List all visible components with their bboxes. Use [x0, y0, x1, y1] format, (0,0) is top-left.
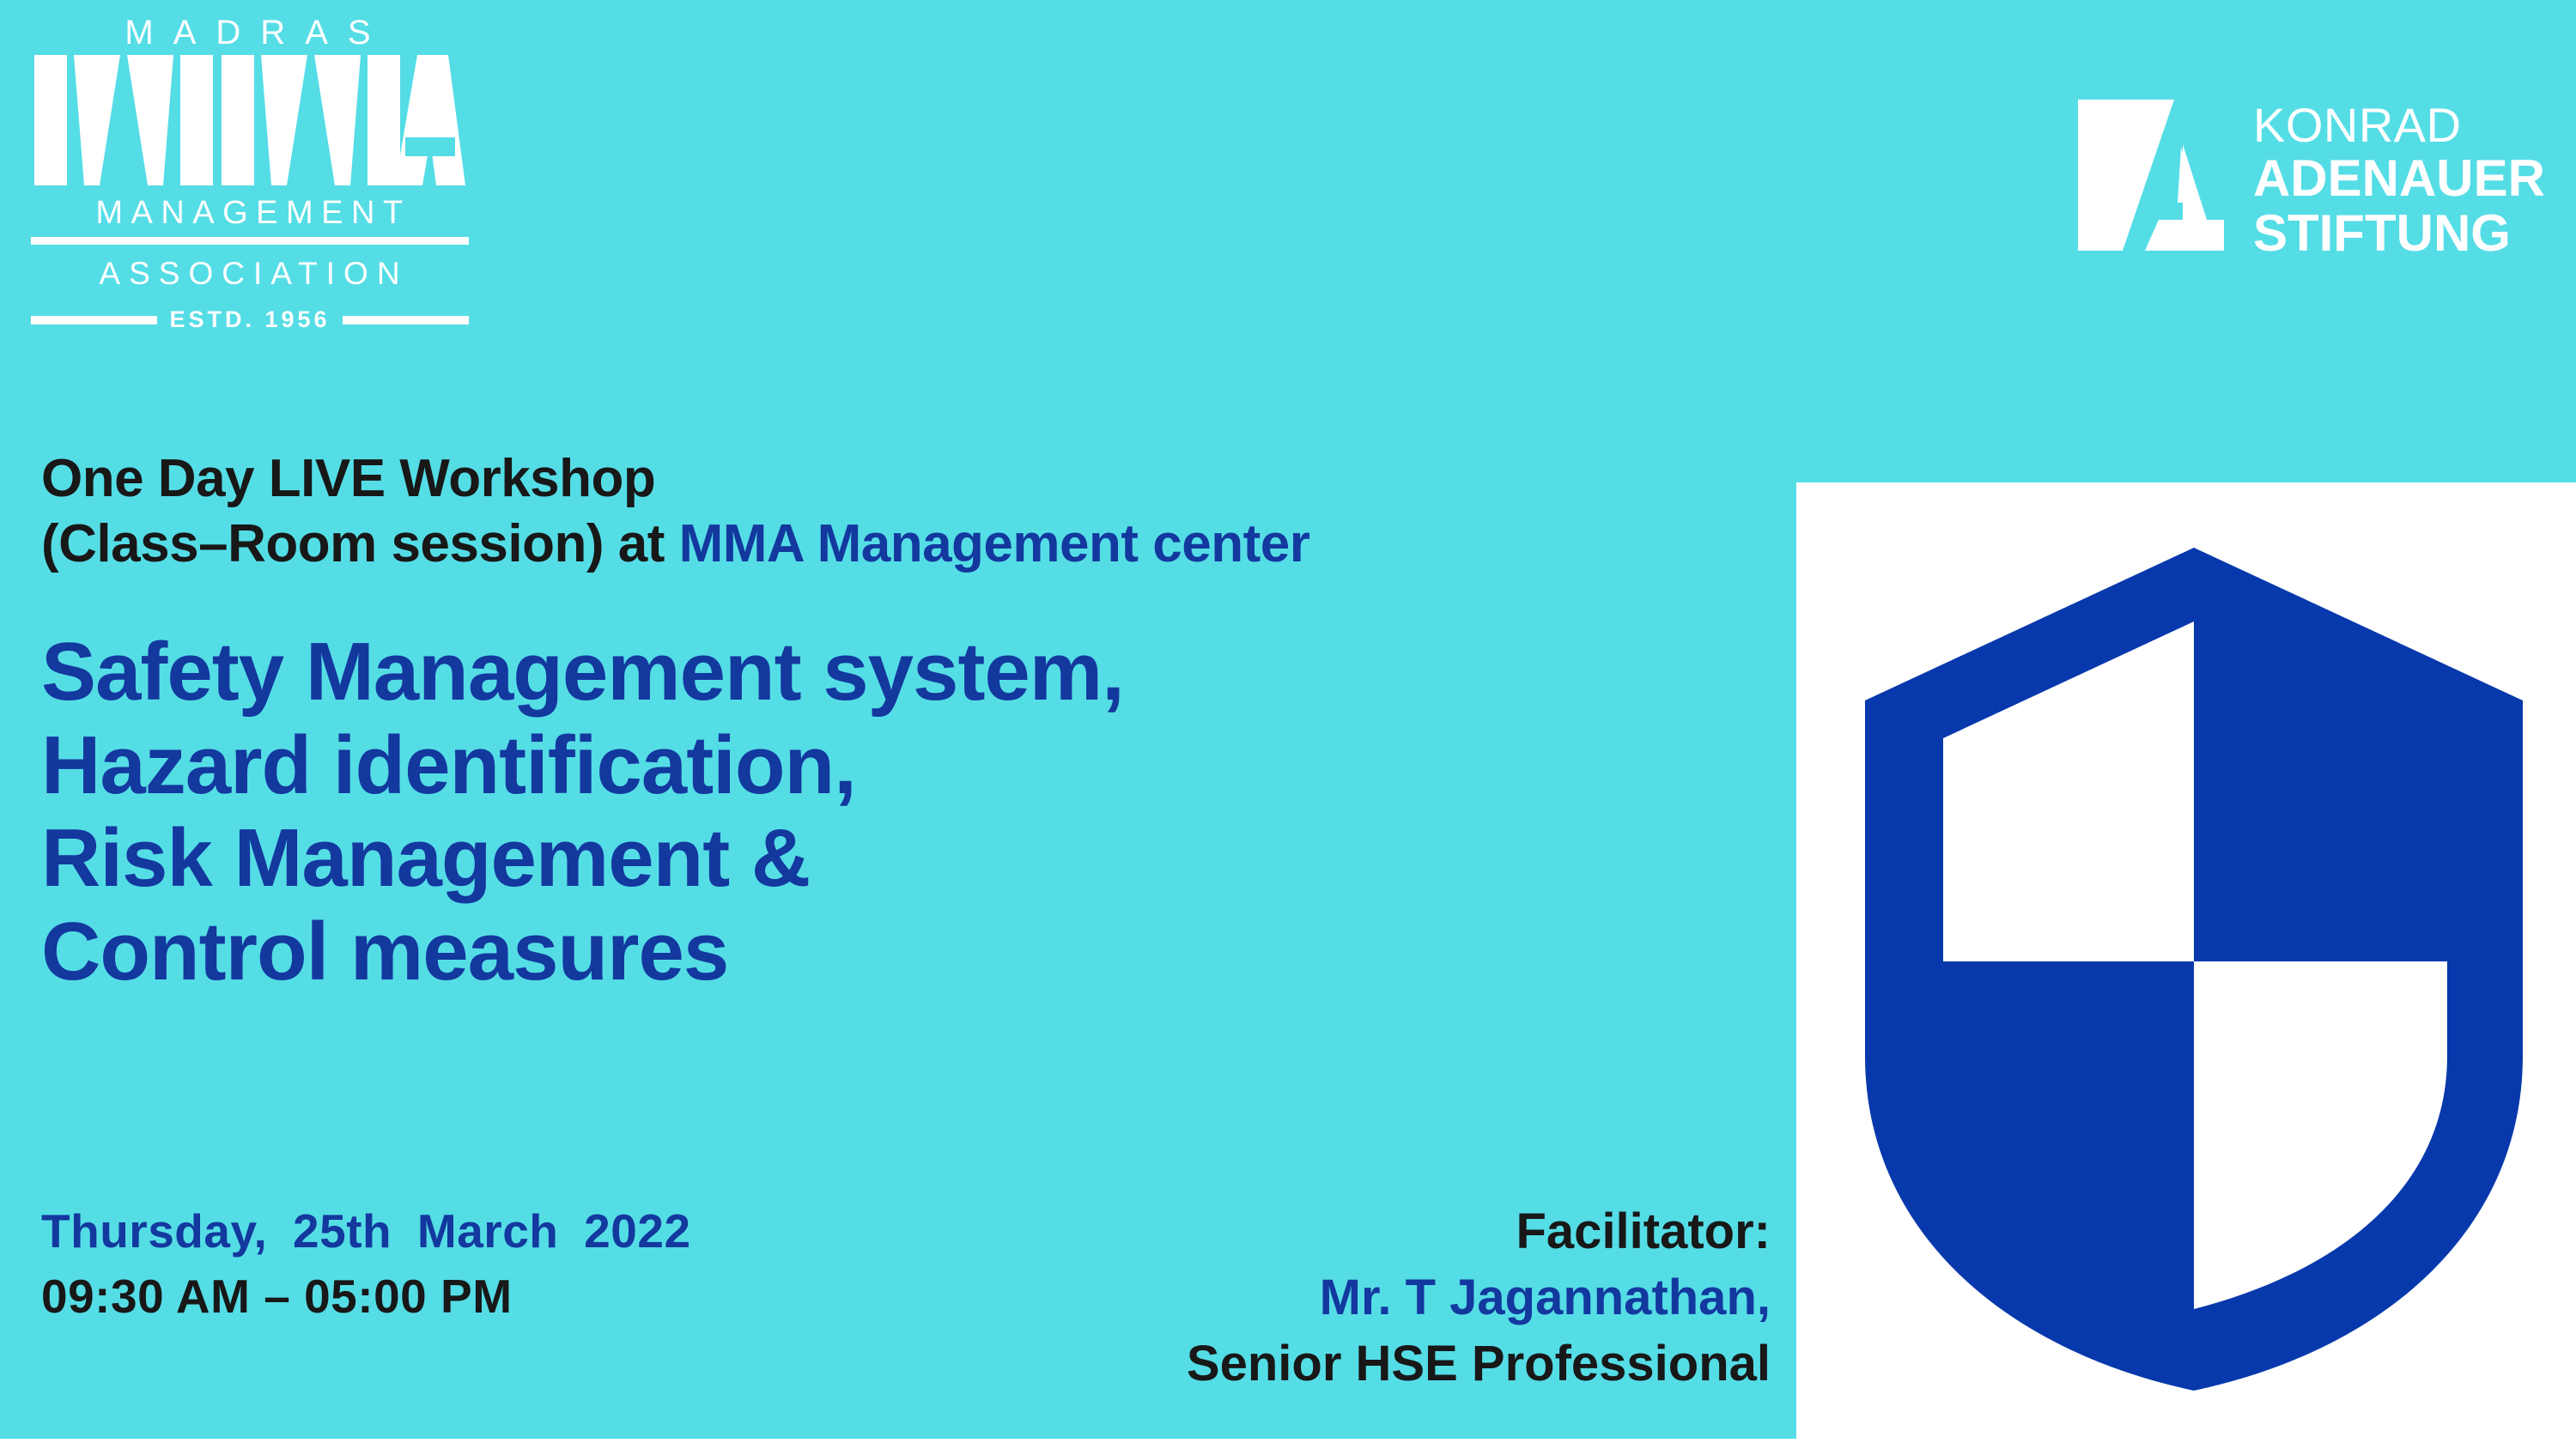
- event-time: 09:30 AM – 05:00 PM: [41, 1267, 691, 1325]
- title-line-3: Risk Management &: [41, 812, 1767, 905]
- title-line-2: Hazard identification,: [41, 719, 1767, 812]
- event-date: Thursday, 25th March 2022: [41, 1202, 691, 1260]
- event-schedule: Thursday, 25th March 2022 09:30 AM – 05:…: [41, 1202, 691, 1325]
- facilitator-label: Facilitator:: [1187, 1202, 1771, 1263]
- mma-logo-established-row: ESTD. 1956: [31, 308, 469, 331]
- subtitle-line-2: (Class–Room session) at MMA Management c…: [41, 512, 1767, 577]
- facilitator-block: Facilitator: Mr. T Jagannathan, Senior H…: [1187, 1202, 1776, 1394]
- main-content: One Day LIVE Workshop (Class–Room sessio…: [41, 446, 1767, 998]
- mma-logo-association: ASSOCIATION: [31, 258, 469, 289]
- mma-logo-divider: [31, 237, 469, 245]
- mma-monogram-icon: [31, 55, 469, 185]
- subtitle-line-2-prefix: (Class–Room session) at: [41, 514, 679, 573]
- venue-name: MMA Management center: [679, 514, 1310, 573]
- title-line-4: Control measures: [41, 906, 1767, 998]
- event-details-row: Thursday, 25th March 2022 09:30 AM – 05:…: [41, 1202, 1776, 1394]
- subtitle-line-1: One Day LIVE Workshop: [41, 446, 1767, 512]
- kas-line-stiftung: STIFTUNG: [2253, 208, 2545, 259]
- kas-a-mark-icon: [2078, 100, 2224, 251]
- poster-canvas: MADRAS MANAGEMENT ASSOCIATION ESTD. 1956: [0, 0, 2576, 1449]
- kas-line-konrad: KONRAD: [2253, 101, 2545, 149]
- estd-rule-left: [31, 316, 157, 324]
- background-bottom-strip: [0, 1439, 1796, 1449]
- kas-wordmark: KONRAD ADENAUER STIFTUNG: [2253, 100, 2545, 259]
- mma-logo-madras: MADRAS: [31, 15, 469, 50]
- facilitator-name: Mr. T Jagannathan,: [1187, 1268, 1771, 1329]
- estd-rule-right: [343, 316, 469, 324]
- event-title: Safety Management system, Hazard identif…: [41, 626, 1767, 998]
- event-subtitle: One Day LIVE Workshop (Class–Room sessio…: [41, 446, 1767, 576]
- safety-shield-graphic: [1855, 532, 2533, 1399]
- facilitator-role: Senior HSE Professional: [1187, 1334, 1771, 1395]
- konrad-adenauer-stiftung-logo: KONRAD ADENAUER STIFTUNG: [2078, 100, 2545, 259]
- title-line-1: Safety Management system,: [41, 626, 1767, 718]
- mma-logo-management: MANAGEMENT: [31, 197, 469, 229]
- mma-logo: MADRAS MANAGEMENT ASSOCIATION ESTD. 1956: [31, 15, 469, 331]
- safety-shield-icon: [1855, 532, 2533, 1399]
- kas-line-adenauer: ADENAUER: [2253, 153, 2545, 204]
- mma-logo-established: ESTD. 1956: [169, 308, 330, 331]
